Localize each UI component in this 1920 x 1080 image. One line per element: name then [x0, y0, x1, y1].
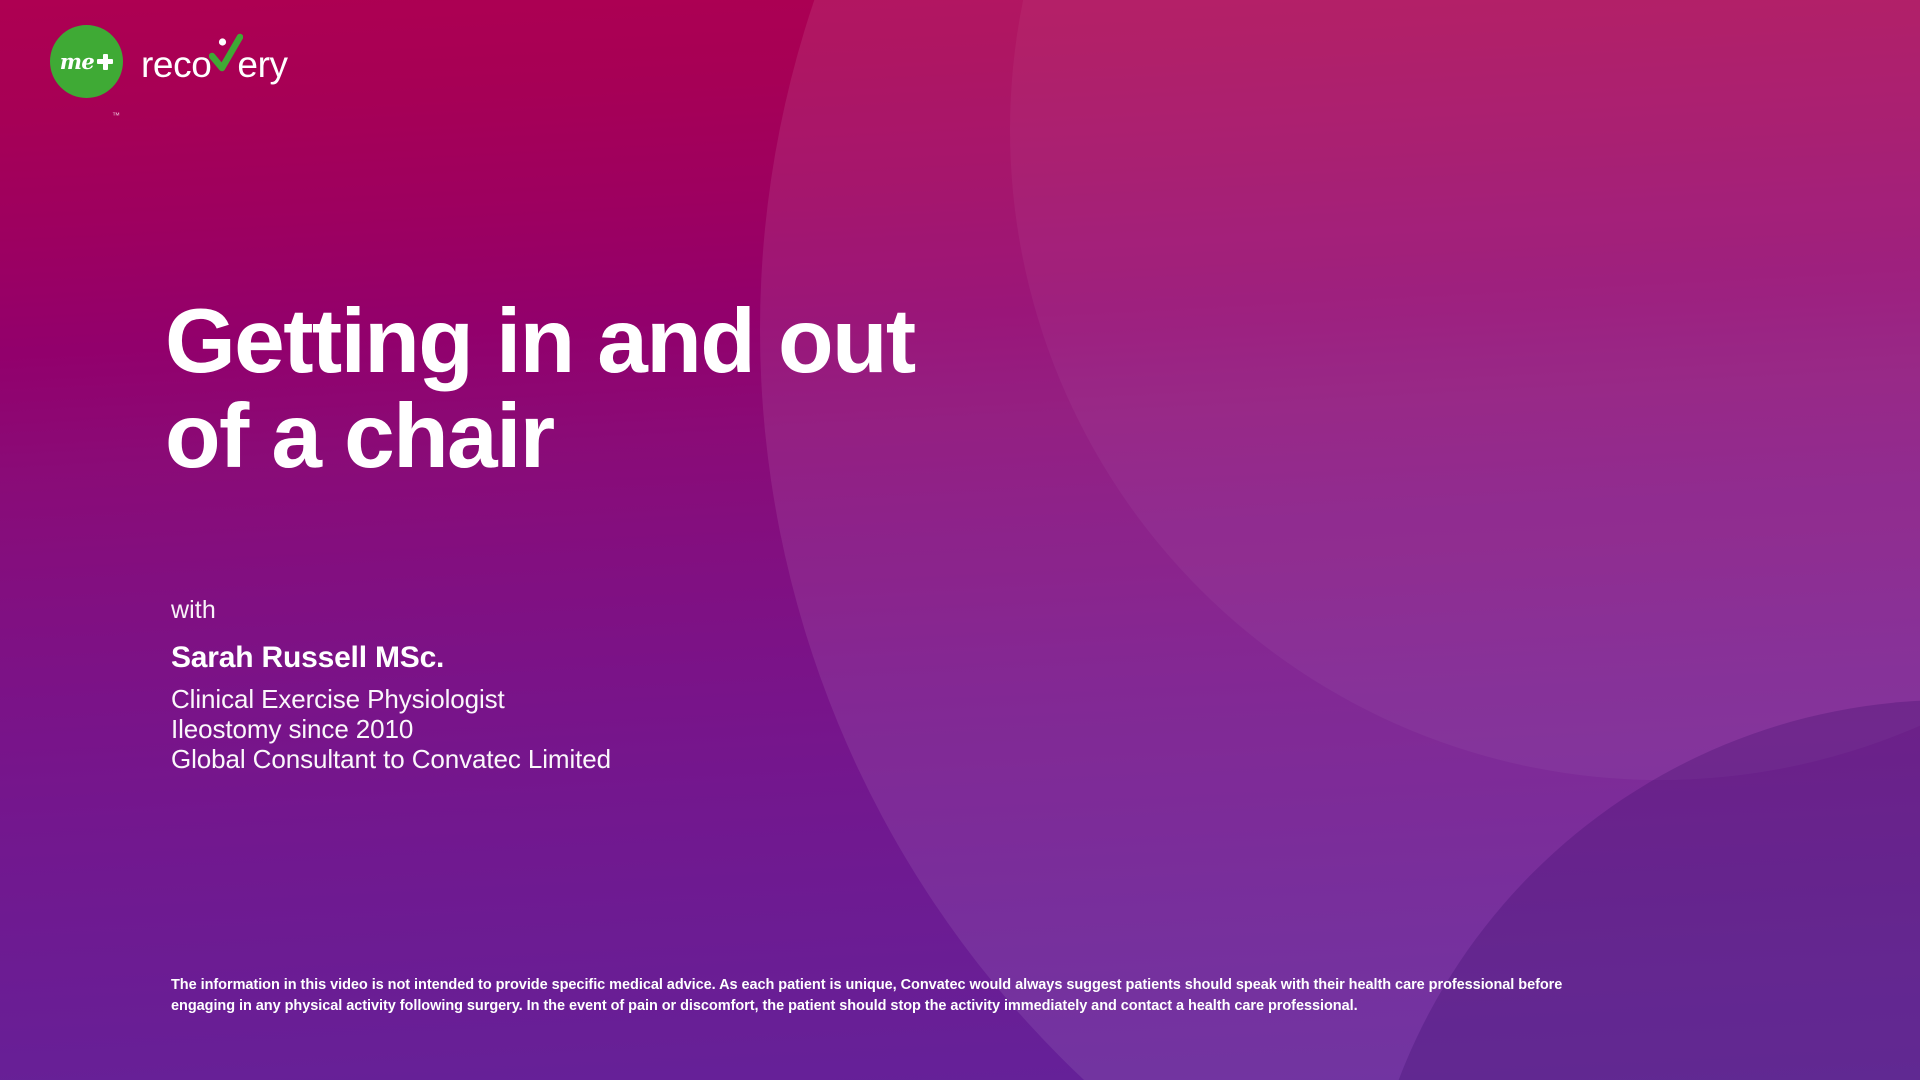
presenter-role-1: Clinical Exercise Physiologist [171, 684, 611, 714]
green-check-icon [211, 40, 237, 77]
decorative-circle-dark [1360, 700, 1920, 1080]
title-line-1: Getting in and out [165, 295, 915, 390]
plus-icon [97, 54, 113, 70]
wordmark-prefix: reco [141, 46, 211, 83]
wordmark-suffix: ery [237, 46, 287, 83]
me-text: me [60, 49, 95, 74]
decorative-circle-medium [1010, 0, 1920, 780]
slide-title: Getting in and out of a chair [165, 295, 915, 484]
title-slide: me reco ery ™ Getting in and out of a ch… [0, 0, 1920, 1080]
presenter-name: Sarah Russell MSc. [171, 636, 611, 680]
presenter-role-2: Ileostomy since 2010 [171, 714, 611, 744]
medical-disclaimer: The information in this video is not int… [171, 975, 1596, 1017]
title-line-2: of a chair [165, 390, 915, 485]
with-label: with [171, 595, 611, 626]
recovery-wordmark: reco ery [141, 40, 288, 83]
presenter-roles: Clinical Exercise Physiologist Ileostomy… [171, 684, 611, 774]
presenter-role-3: Global Consultant to Convatec Limited [171, 744, 611, 774]
decorative-circle-large [760, 0, 1920, 1080]
trademark-symbol: ™ [112, 111, 120, 120]
me-plus-badge-icon: me [50, 25, 123, 98]
brand-logo: me reco ery ™ [50, 25, 288, 98]
presenter-credits: with Sarah Russell MSc. Clinical Exercis… [171, 595, 611, 774]
